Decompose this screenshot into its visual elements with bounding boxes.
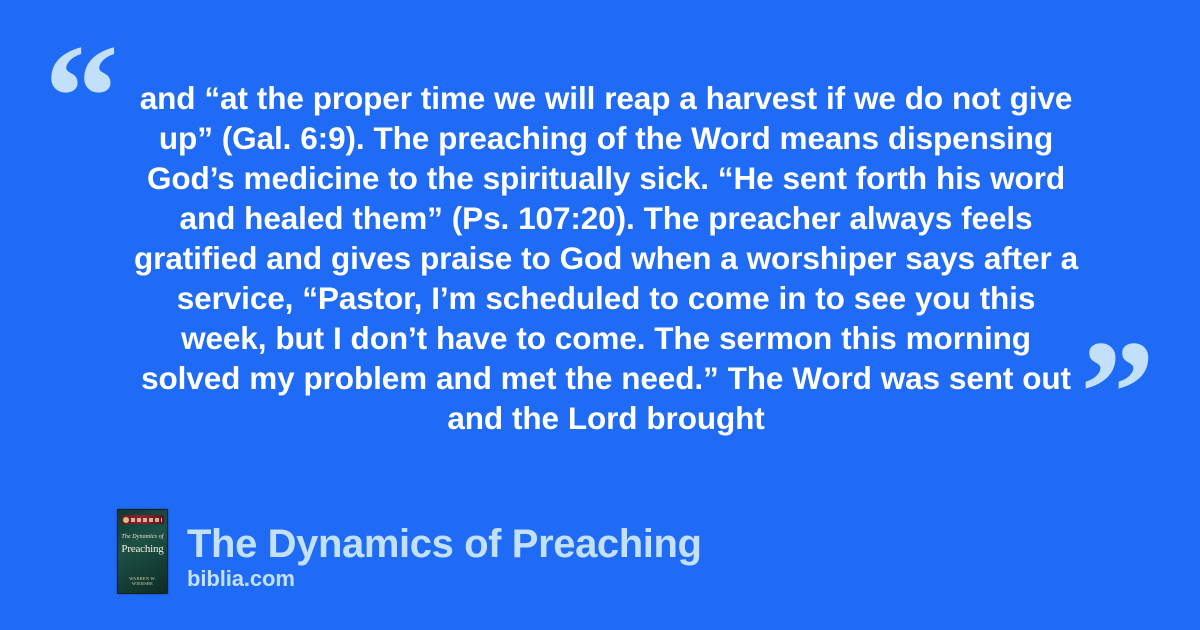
footer-text-block: The Dynamics of Preaching biblia.com xyxy=(187,522,702,594)
book-cover-title-line-1: The Dynamics of xyxy=(118,534,167,541)
book-cover-author: Warren W. Wiersbe xyxy=(118,576,167,586)
close-quote-icon: ” xyxy=(1080,318,1155,468)
site-name: biblia.com xyxy=(187,566,702,592)
book-cover-band-text xyxy=(131,518,162,522)
book-cover-title-line-2: Preaching xyxy=(118,543,167,555)
book-cover-thumbnail: The Dynamics of Preaching Warren W. Wier… xyxy=(117,509,168,594)
open-quote-icon: “ xyxy=(44,22,119,172)
book-cover-seal-icon xyxy=(123,517,129,523)
book-cover-band xyxy=(121,515,164,524)
quote-card: “ ” and “at the proper time we will reap… xyxy=(0,0,1200,630)
footer: The Dynamics of Preaching Warren W. Wier… xyxy=(117,509,702,594)
book-title: The Dynamics of Preaching xyxy=(187,522,702,566)
quote-text: and “at the proper time we will reap a h… xyxy=(130,78,1082,438)
